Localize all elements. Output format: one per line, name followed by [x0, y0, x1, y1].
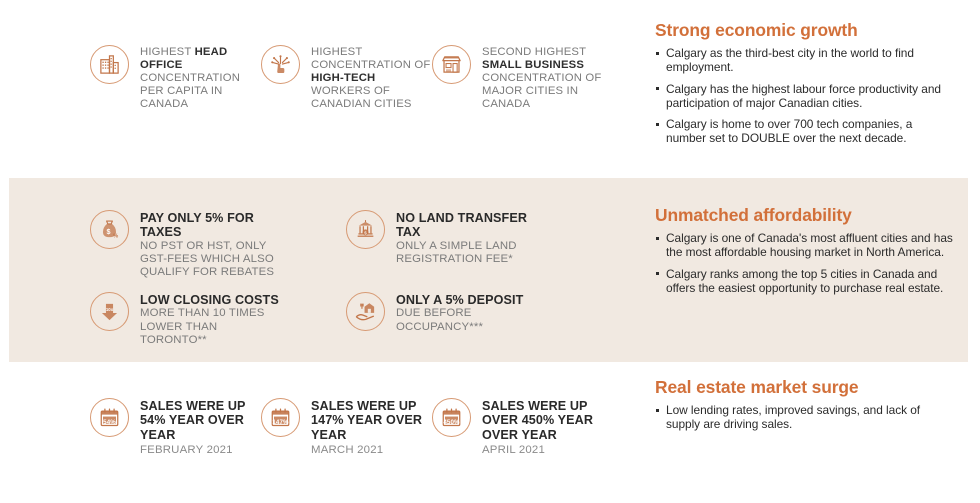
- copy-heading: Unmatched affordability: [655, 205, 955, 225]
- feature-heading: NO LAND TRANSFER TAX: [396, 211, 536, 240]
- calendar-icon: 54%: [90, 398, 129, 437]
- copy-bullet-list: Calgary as the third-best city in the wo…: [655, 46, 955, 146]
- copy-bullet: Calgary as the third-best city in the wo…: [655, 46, 955, 75]
- feature-pay-only-5-percent: $ % PAY ONLY 5% FOR TAXES NO PST OR HST,…: [90, 210, 280, 279]
- feature-date: APRIL 2021: [482, 442, 612, 457]
- feature-heading: SALES WERE UP OVER 450% YEAR OVER YEAR: [482, 399, 612, 442]
- feature-heading: PAY ONLY 5% FOR TAXES: [140, 211, 280, 240]
- copy-bullet-list: Low lending rates, improved savings, and…: [655, 403, 955, 432]
- feature-head-office: HIGHEST HEAD OFFICE CONCENTRATION PER CA…: [90, 45, 260, 111]
- section-market-surge: 54% SALES WERE UP 54% YEAR OVER YEAR FEB…: [9, 362, 968, 503]
- feature-date: MARCH 2021: [311, 442, 431, 457]
- copy-bullet: Calgary is home to over 700 tech compani…: [655, 117, 955, 146]
- copy-heading: Strong economic growth: [655, 20, 955, 40]
- calendar-icon: 450%: [432, 398, 471, 437]
- copy-bullet: Calgary ranks among the top 5 cities in …: [655, 267, 955, 296]
- feature-low-closing-costs: 10x LOW CLOSING COSTS MORE THAN 10 TIMES…: [90, 292, 280, 347]
- feature-small-business: SECOND HIGHEST SMALL BUSINESS CONCENTRAT…: [432, 45, 607, 111]
- feature-date: FEBRUARY 2021: [140, 442, 260, 457]
- feature-heading: LOW CLOSING COSTS: [140, 293, 280, 307]
- feature-heading: ONLY A 5% DEPOSIT: [396, 293, 536, 307]
- storefront-icon: [432, 45, 471, 84]
- feature-sales-february: 54% SALES WERE UP 54% YEAR OVER YEAR FEB…: [90, 398, 260, 457]
- feature-subtext: NO PST OR HST, ONLY GST-FEES WHICH ALSO …: [140, 240, 280, 280]
- money-bag-icon: $ %: [90, 210, 129, 249]
- feature-heading: SALES WERE UP 147% YEAR OVER YEAR: [311, 399, 431, 442]
- office-buildings-icon: [90, 45, 129, 84]
- feature-no-land-transfer-tax: $ NO LAND TRANSFER TAX ONLY A SIMPLE LAN…: [346, 210, 536, 266]
- feature-heading: SALES WERE UP 54% YEAR OVER YEAR: [140, 399, 260, 442]
- copy-bullet: Low lending rates, improved savings, and…: [655, 403, 955, 432]
- feature-five-percent-deposit: ONLY A 5% DEPOSIT DUE BEFORE OCCUPANCY**…: [346, 292, 536, 334]
- feature-sales-april: 450% SALES WERE UP OVER 450% YEAR OVER Y…: [432, 398, 612, 457]
- infographic-page: HIGHEST HEAD OFFICE CONCENTRATION PER CA…: [0, 0, 980, 503]
- feature-text: SECOND HIGHEST SMALL BUSINESS CONCENTRAT…: [482, 46, 607, 111]
- feature-sales-march: 147% SALES WERE UP 147% YEAR OVER YEAR M…: [261, 398, 431, 457]
- feature-subtext: ONLY A SIMPLE LAND REGISTRATION FEE*: [396, 240, 536, 266]
- courthouse-icon: $: [346, 210, 385, 249]
- feature-subtext: MORE THAN 10 TIMES LOWER THAN TORONTO**: [140, 307, 280, 347]
- high-tech-hand-icon: [261, 45, 300, 84]
- feature-text: HIGHEST CONCENTRATION OF HIGH-TECH WORKE…: [311, 46, 431, 111]
- down-arrow-icon: 10x: [90, 292, 129, 331]
- svg-text:%: %: [113, 234, 118, 240]
- feature-high-tech: HIGHEST CONCENTRATION OF HIGH-TECH WORKE…: [261, 45, 431, 111]
- section-economic-growth: HIGHEST HEAD OFFICE CONCENTRATION PER CA…: [9, 0, 968, 178]
- copy-bullet: Calgary has the highest labour force pro…: [655, 82, 955, 111]
- feature-subtext: DUE BEFORE OCCUPANCY***: [396, 307, 536, 333]
- svg-text:$: $: [107, 228, 111, 236]
- copy-heading: Real estate market surge: [655, 377, 955, 397]
- copy-bullet: Calgary is one of Canada's most affluent…: [655, 231, 955, 260]
- copy-market-surge: Real estate market surge Low lending rat…: [655, 377, 955, 432]
- house-in-hand-icon: [346, 292, 385, 331]
- calendar-icon: 147%: [261, 398, 300, 437]
- copy-bullet-list: Calgary is one of Canada's most affluent…: [655, 231, 955, 295]
- copy-economic-growth: Strong economic growth Calgary as the th…: [655, 20, 955, 146]
- section-affordability: $ % PAY ONLY 5% FOR TAXES NO PST OR HST,…: [9, 178, 968, 362]
- feature-text: HIGHEST HEAD OFFICE CONCENTRATION PER CA…: [140, 46, 260, 111]
- svg-text:10x: 10x: [106, 307, 114, 312]
- copy-affordability: Unmatched affordability Calgary is one o…: [655, 205, 955, 295]
